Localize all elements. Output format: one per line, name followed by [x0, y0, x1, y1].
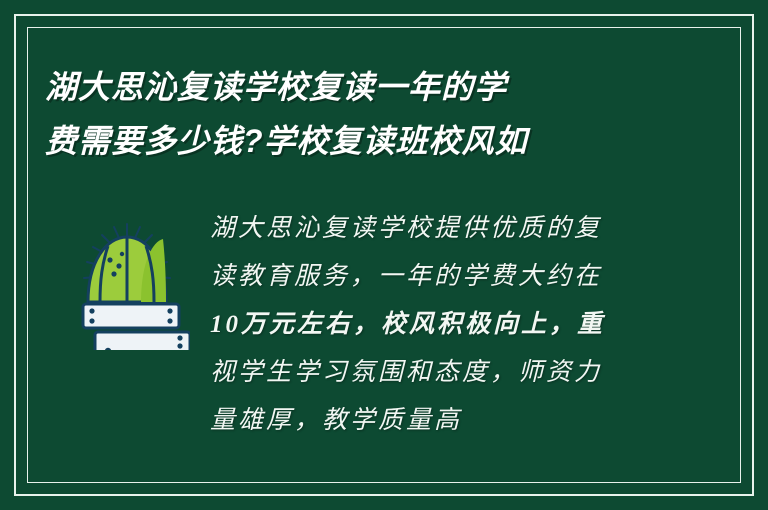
paragraph-line-1: 湖大思沁复读学校提供优质的复: [210, 205, 710, 253]
cactus-server-icon: [75, 220, 190, 350]
cactus-server-illustration: [75, 220, 190, 350]
server-rack-top: [83, 304, 179, 328]
article-card: 湖大思沁复读学校复读一年的学 费需要多少钱?学校复读班校风如: [0, 0, 768, 510]
title-line-1: 湖大思沁复读学校复读一年的学: [45, 60, 715, 114]
paragraph-line-3: 10万元左右，校风积极向上，重: [210, 301, 710, 349]
page-title: 湖大思沁复读学校复读一年的学 费需要多少钱?学校复读班校风如: [45, 60, 715, 168]
body-section: 湖大思沁复读学校提供优质的复 读教育服务，一年的学费大约在 10万元左右，校风积…: [45, 205, 725, 460]
server-rack-bottom: [95, 332, 190, 350]
paragraph-line-4: 视学生学习氛围和态度，师资力: [210, 349, 710, 397]
paragraph-line-5: 量雄厚，教学质量高: [210, 397, 710, 445]
article-paragraph: 湖大思沁复读学校提供优质的复 读教育服务，一年的学费大约在 10万元左右，校风积…: [210, 205, 710, 445]
paragraph-line-2: 读教育服务，一年的学费大约在: [210, 253, 710, 301]
title-line-2: 费需要多少钱?学校复读班校风如: [45, 114, 715, 168]
